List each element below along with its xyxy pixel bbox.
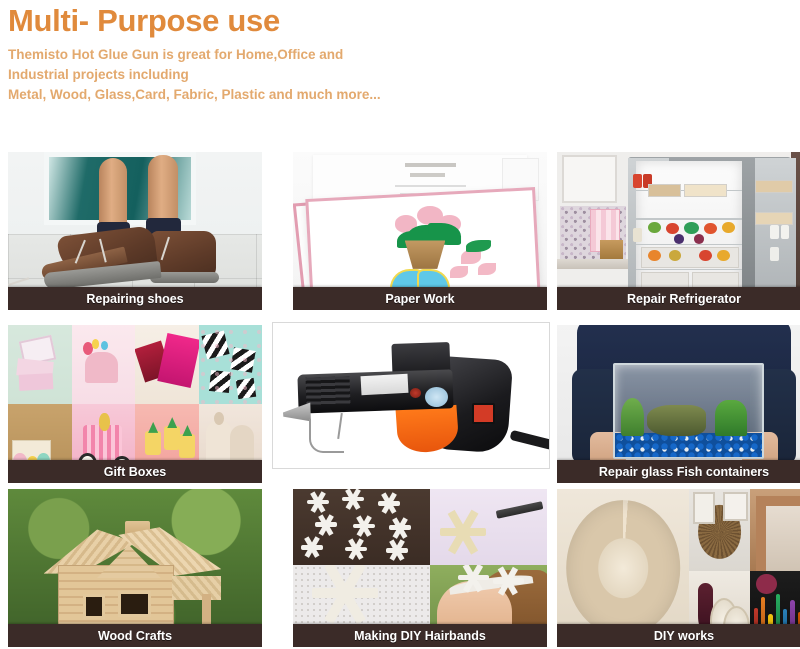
caption-diy-hairbands: Making DIY Hairbands (293, 624, 547, 647)
caption-repair-refrigerator: Repair Refrigerator (557, 287, 800, 310)
tile-gift-boxes[interactable]: Gift Boxes (8, 325, 262, 483)
tile-diy-hairbands[interactable]: Making DIY Hairbands (293, 489, 547, 647)
tile-diy-works[interactable]: DIY works (557, 489, 800, 647)
tile-paper-work[interactable]: Paper Work (293, 152, 547, 310)
tile-repair-refrigerator[interactable]: Repair Refrigerator (557, 152, 800, 310)
tile-wood-crafts[interactable]: Wood Crafts (8, 489, 262, 647)
tile-repair-fish-tank[interactable]: Repair glass Fish containers (557, 325, 800, 483)
caption-repair-fish-tank: Repair glass Fish containers (557, 460, 800, 483)
caption-repairing-shoes: Repairing shoes (8, 287, 262, 310)
tile-repairing-shoes[interactable]: Repairing shoes (8, 152, 262, 310)
caption-wood-crafts: Wood Crafts (8, 624, 262, 647)
usage-gallery-grid: Repairing shoes Paper Work (0, 0, 800, 649)
caption-gift-boxes: Gift Boxes (8, 460, 262, 483)
caption-diy-works: DIY works (557, 624, 800, 647)
caption-paper-work: Paper Work (293, 287, 547, 310)
photo-product-glue-gun (273, 323, 549, 468)
tile-product-glue-gun[interactable] (272, 322, 550, 469)
